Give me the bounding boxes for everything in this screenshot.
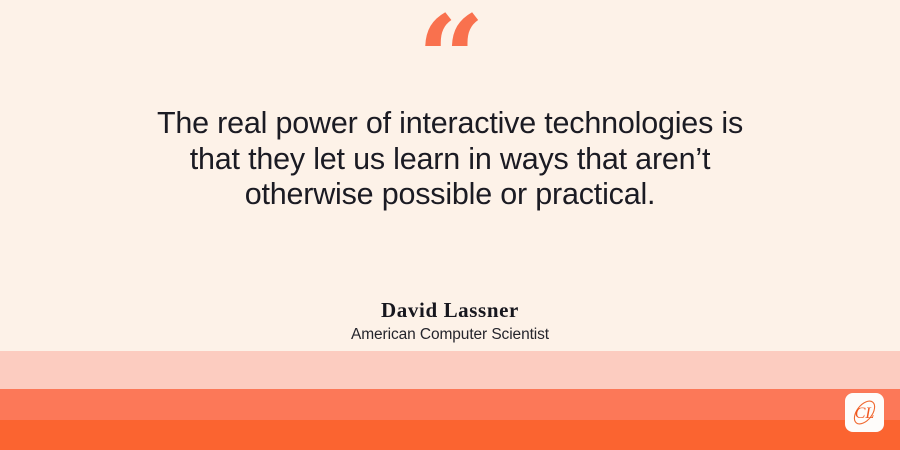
quote-text: The real power of interactive technologi… <box>60 106 840 213</box>
quote-line: otherwise possible or practical. <box>60 177 840 213</box>
attribution: David Lassner American Computer Scientis… <box>0 298 900 344</box>
opening-quote-mark-icon: “ <box>0 0 900 118</box>
author-name: David Lassner <box>0 298 900 322</box>
svg-text:CL: CL <box>855 405 875 422</box>
brand-logo-badge[interactable]: CL <box>845 393 884 432</box>
color-band-pink <box>0 351 900 389</box>
cl-monogram-icon: CL <box>845 393 884 432</box>
quote-line: that they let us learn in ways that aren… <box>60 142 840 178</box>
author-title: American Computer Scientist <box>0 325 900 344</box>
quote-line: The real power of interactive technologi… <box>60 106 840 142</box>
quote-card: “ The real power of interactive technolo… <box>0 0 900 450</box>
color-band-orange <box>0 420 900 450</box>
color-band-salmon <box>0 389 900 420</box>
